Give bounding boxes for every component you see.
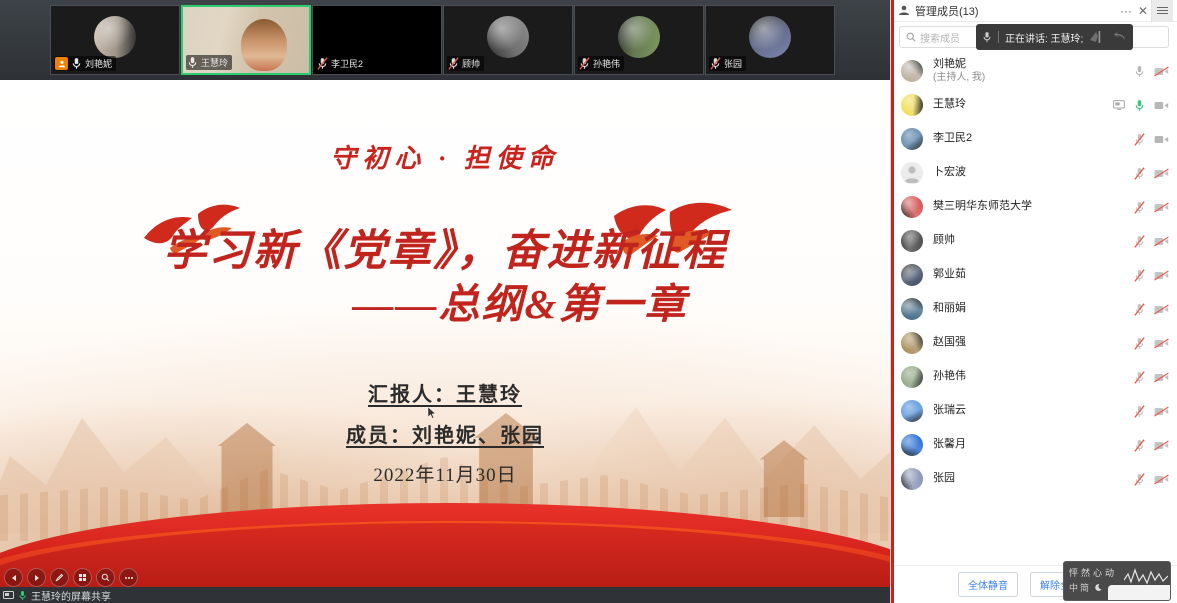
panel-menu-button[interactable] xyxy=(1151,0,1173,22)
hamburger-icon xyxy=(1157,6,1168,15)
avatar xyxy=(901,128,923,150)
tile-namebar: 王慧玲 xyxy=(186,55,232,70)
video-tile[interactable]: 王慧玲 xyxy=(181,5,311,75)
hand-raise-icon[interactable] xyxy=(1089,30,1107,44)
taskbar-label: 王慧玲的屏幕共享 xyxy=(31,588,111,603)
default-avatar-icon xyxy=(901,162,923,184)
participant-controls[interactable] xyxy=(1134,371,1169,384)
participants-panel: 管理成员(13) ··· ✕ 搜索成员 xyxy=(890,0,1177,603)
ppt-control-toolbar[interactable] xyxy=(4,568,138,587)
participant-controls[interactable] xyxy=(1134,167,1169,180)
meeting-app: 刘艳妮 王慧玲 李卫民2 顾帅 孙艳伟 张园 xyxy=(0,0,1177,603)
tile-participant-name: 李卫民2 xyxy=(331,57,363,70)
video-off-icon xyxy=(1154,474,1169,485)
participant-row[interactable]: 李卫民2 xyxy=(891,122,1177,156)
video-tile[interactable]: 张园 xyxy=(705,5,835,75)
participant-controls[interactable] xyxy=(1134,65,1169,78)
next-slide-icon xyxy=(33,574,41,582)
participant-controls[interactable] xyxy=(1134,439,1169,452)
participant-controls[interactable] xyxy=(1134,269,1169,282)
tile-namebar: 刘艳妮 xyxy=(54,56,116,71)
mic-on-icon xyxy=(1134,65,1145,78)
avatar xyxy=(901,400,923,422)
zoom-icon xyxy=(101,573,110,582)
moon-icon xyxy=(1095,583,1104,592)
participant-row[interactable]: 刘艳妮(主持人, 我) xyxy=(891,54,1177,88)
waveform-icon xyxy=(1124,566,1168,586)
video-off-icon xyxy=(1154,270,1169,281)
avatar xyxy=(901,332,923,354)
avatar xyxy=(618,16,660,58)
avatar xyxy=(487,16,529,58)
participant-row[interactable]: 郭业茹 xyxy=(891,258,1177,292)
participant-row[interactable]: 张馨月 xyxy=(891,428,1177,462)
slide-canvas: 守初心 · 担使命 学习新《党章》，奋进新征程 ——总纲&第一章 汇报人：王慧玲… xyxy=(0,80,890,603)
host-badge xyxy=(55,57,68,70)
participant-row[interactable]: 和丽娟 xyxy=(891,292,1177,326)
music-panel-fill xyxy=(1108,585,1171,600)
mic-green-icon xyxy=(18,590,27,601)
mic-muted-icon xyxy=(579,57,590,70)
host-person-icon xyxy=(58,60,66,68)
mic-muted-icon xyxy=(1134,133,1145,146)
search-row: 搜索成员 正在讲话: 王慧玲; xyxy=(891,22,1177,52)
shared-screen-slide: 守初心 · 担使命 学习新《党章》，奋进新征程 ——总纲&第一章 汇报人：王慧玲… xyxy=(0,80,890,603)
tile-participant-name: 刘艳妮 xyxy=(85,57,112,70)
meeting-area: 刘艳妮 王慧玲 李卫民2 顾帅 孙艳伟 张园 xyxy=(0,0,890,603)
prev-slide-icon xyxy=(10,574,18,582)
speaking-text: 正在讲话: 王慧玲; xyxy=(1005,30,1083,45)
participant-controls[interactable] xyxy=(1134,201,1169,214)
mic-muted-icon xyxy=(1134,303,1145,316)
mic-muted-icon xyxy=(1134,235,1145,248)
screen-share-icon xyxy=(1113,100,1125,110)
participant-controls[interactable] xyxy=(1134,235,1169,248)
mic-on-icon xyxy=(1134,99,1145,112)
search-placeholder: 搜索成员 xyxy=(920,30,960,45)
video-off-icon xyxy=(1154,372,1169,383)
participant-row[interactable]: 樊三明华东师范大学 xyxy=(891,190,1177,224)
pen-icon xyxy=(55,573,64,582)
person-silhouette xyxy=(241,19,287,71)
avatar xyxy=(901,94,923,116)
tile-participant-name: 王慧玲 xyxy=(201,56,228,69)
participant-name: 王慧玲 xyxy=(933,98,1113,112)
video-thumbnail-strip: 刘艳妮 王慧玲 李卫民2 顾帅 孙艳伟 张园 xyxy=(0,0,890,80)
slide-presenter: 汇报人：王慧玲 xyxy=(0,378,890,407)
tooltip-divider xyxy=(998,31,999,43)
video-off-icon xyxy=(1154,202,1169,213)
tile-participant-name: 孙艳伟 xyxy=(593,57,620,70)
avatar xyxy=(901,264,923,286)
tile-participant-name: 张园 xyxy=(724,57,742,70)
slides-overview-button[interactable] xyxy=(73,568,92,587)
participant-name: 樊三明华东师范大学 xyxy=(933,200,1134,214)
mic-muted-icon xyxy=(710,57,721,70)
participant-controls[interactable] xyxy=(1134,303,1169,316)
mute-all-button[interactable]: 全体静音 xyxy=(958,572,1018,597)
tile-namebar: 李卫民2 xyxy=(316,56,367,71)
people-icon xyxy=(898,5,910,16)
pen-tool-button[interactable] xyxy=(50,568,69,587)
avatar xyxy=(901,366,923,388)
video-on-icon xyxy=(1154,134,1169,145)
participant-row[interactable]: 赵国强 xyxy=(891,326,1177,360)
video-off-icon xyxy=(1154,440,1169,451)
participant-row[interactable]: 顾帅 xyxy=(891,224,1177,258)
tile-participant-name: 顾帅 xyxy=(462,57,480,70)
mic-muted-icon xyxy=(317,57,328,70)
avatar xyxy=(901,196,923,218)
slide-title-line1: 学习新《党章》，奋进新征程 xyxy=(0,225,890,279)
slides-grid-icon xyxy=(78,573,87,582)
video-tile[interactable]: 顾帅 xyxy=(443,5,573,75)
video-off-icon xyxy=(1154,406,1169,417)
slide-members: 成员：刘艳妮、张园 xyxy=(0,419,890,448)
slide-motto-row: 守初心 · 担使命 xyxy=(0,108,890,204)
participant-row[interactable]: 孙艳伟 xyxy=(891,360,1177,394)
participant-name: 和丽娟 xyxy=(933,302,1134,316)
video-off-icon xyxy=(1154,236,1169,247)
participant-name: 刘艳妮(主持人, 我) xyxy=(933,58,1134,84)
panel-red-edge xyxy=(891,0,894,603)
mic-muted-icon xyxy=(1134,337,1145,350)
video-tile[interactable]: 李卫民2 xyxy=(312,5,442,75)
more-options-icon xyxy=(124,576,134,580)
video-off-icon xyxy=(1154,338,1169,349)
slide-title-line2: ——总纲&第一章 xyxy=(0,279,890,330)
tile-namebar: 张园 xyxy=(709,56,746,71)
mic-muted-icon xyxy=(1134,167,1145,180)
mic-muted-icon xyxy=(1134,201,1145,214)
participant-row[interactable]: 王慧玲 xyxy=(891,88,1177,122)
slide-date: 2022年11月30日 xyxy=(0,460,890,487)
avatar xyxy=(901,468,923,490)
mic-muted-icon xyxy=(1134,371,1145,384)
mic-muted-icon xyxy=(1134,439,1145,452)
participant-name: 孙艳伟 xyxy=(933,370,1134,384)
participant-controls[interactable] xyxy=(1134,337,1169,350)
video-on-icon xyxy=(1154,100,1169,111)
video-tile[interactable]: 刘艳妮 xyxy=(50,5,180,75)
video-off-icon xyxy=(1154,168,1169,179)
slide-title-block: 学习新《党章》，奋进新征程 ——总纲&第一章 xyxy=(0,225,890,330)
search-icon xyxy=(906,32,916,42)
zoom-button[interactable] xyxy=(96,568,115,587)
mic-muted-icon xyxy=(1134,405,1145,418)
avatar xyxy=(94,16,136,58)
avatar xyxy=(901,230,923,252)
screen-share-taskbar[interactable]: 王慧玲的屏幕共享 xyxy=(0,587,890,603)
mic-on-icon xyxy=(71,57,82,70)
next-slide-button[interactable] xyxy=(27,568,46,587)
participant-name: 张园 xyxy=(933,472,1134,486)
participant-row[interactable]: 张园 xyxy=(891,462,1177,496)
participant-controls[interactable] xyxy=(1134,473,1169,486)
participant-name: 赵国强 xyxy=(933,336,1134,350)
prev-slide-button[interactable] xyxy=(4,568,23,587)
video-off-icon xyxy=(1154,304,1169,315)
speaking-tooltip: 正在讲话: 王慧玲; xyxy=(976,24,1133,50)
participant-list[interactable]: 刘艳妮(主持人, 我) 王慧玲 李卫民2 xyxy=(891,52,1177,565)
tile-namebar: 顾帅 xyxy=(447,56,484,71)
participant-name: 李卫民2 xyxy=(933,132,1134,146)
screen-share-icon xyxy=(3,591,14,600)
avatar xyxy=(749,16,791,58)
mic-muted-icon xyxy=(1134,269,1145,282)
participant-row[interactable]: 卜宏波 xyxy=(891,156,1177,190)
participant-name: 张馨月 xyxy=(933,438,1134,452)
video-off-icon xyxy=(1154,66,1169,77)
panel-close-button[interactable]: ✕ xyxy=(1135,4,1151,18)
participant-controls[interactable] xyxy=(1134,133,1169,146)
participant-controls[interactable] xyxy=(1134,405,1169,418)
more-options-button[interactable] xyxy=(119,568,138,587)
participant-controls[interactable] xyxy=(1113,99,1169,112)
music-widget[interactable]: 怦然心动 中简 xyxy=(1063,561,1171,601)
participant-name: 顾帅 xyxy=(933,234,1134,248)
mic-muted-icon xyxy=(1134,473,1145,486)
participant-name: 郭业茹 xyxy=(933,268,1134,282)
slide-meta-block: 汇报人：王慧玲 成员：刘艳妮、张园 2022年11月30日 xyxy=(0,378,890,487)
video-tile[interactable]: 孙艳伟 xyxy=(574,5,704,75)
participant-row[interactable]: 张瑞云 xyxy=(891,394,1177,428)
avatar xyxy=(901,434,923,456)
avatar xyxy=(901,162,923,184)
mic-icon xyxy=(982,31,992,43)
mouse-cursor-icon xyxy=(428,407,436,419)
tile-namebar: 孙艳伟 xyxy=(578,56,624,71)
mic-muted-icon xyxy=(448,57,459,70)
avatar xyxy=(901,60,923,82)
panel-more-button[interactable]: ··· xyxy=(1117,4,1135,18)
avatar xyxy=(901,298,923,320)
participant-role: (主持人, 我) xyxy=(933,72,1134,85)
participant-name: 卜宏波 xyxy=(933,166,1134,180)
panel-title: 管理成员(13) xyxy=(915,3,1117,19)
back-arrow-icon[interactable] xyxy=(1113,30,1127,44)
panel-header: 管理成员(13) ··· ✕ xyxy=(891,0,1177,22)
participant-name: 张瑞云 xyxy=(933,404,1134,418)
slide-motto: 守初心 · 担使命 xyxy=(330,138,560,175)
mic-on-icon xyxy=(187,56,198,69)
music-subtitle: 中简 xyxy=(1069,581,1091,594)
